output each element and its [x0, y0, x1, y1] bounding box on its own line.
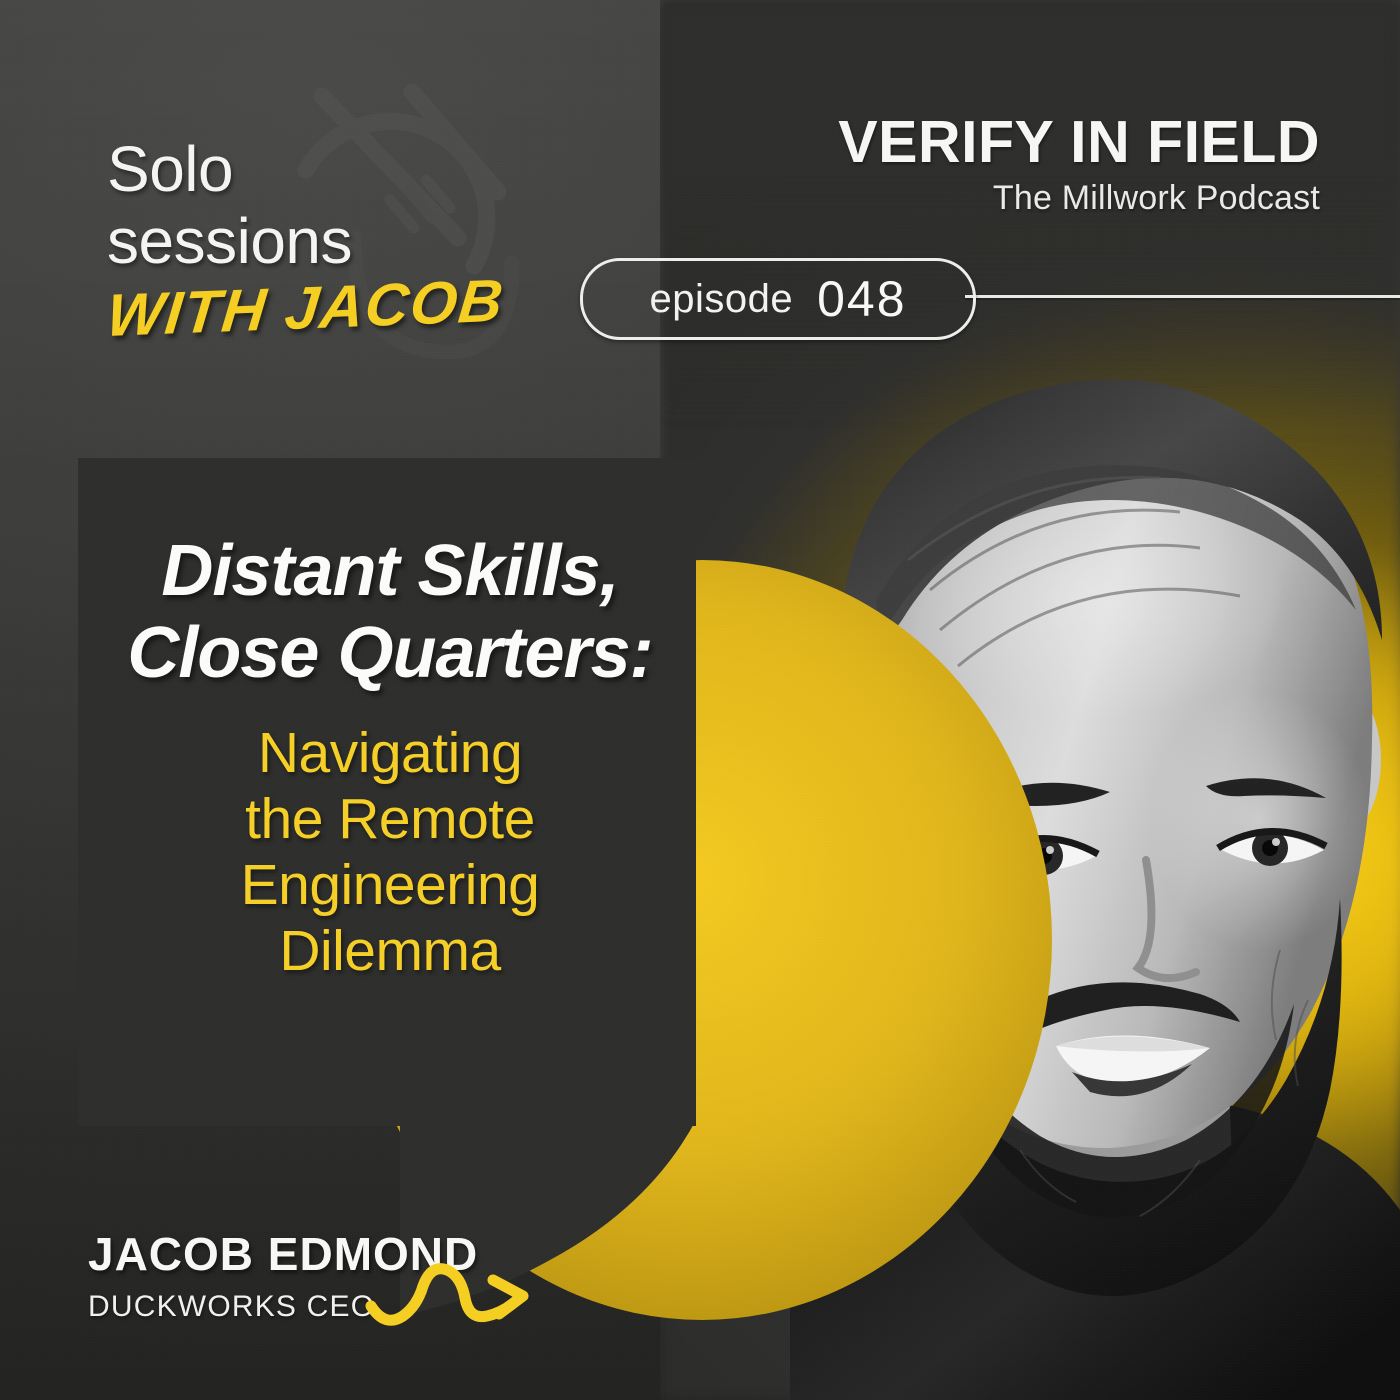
show-title-line1: Solo	[107, 133, 537, 205]
episode-title-sub: Navigating the Remote Engineering Dilemm…	[100, 720, 680, 984]
show-title-line2: sessions	[107, 205, 537, 277]
episode-subtitle-line2: the Remote	[100, 786, 680, 852]
episode-rule-line	[965, 295, 1400, 298]
squiggly-arrow-icon	[365, 1262, 540, 1332]
episode-title-block: Distant Skills, Close Quarters: Navigati…	[100, 530, 680, 984]
episode-title-line2: Close Quarters:	[100, 612, 680, 694]
episode-label: episode	[649, 277, 793, 322]
show-title-block: Solo sessions WITH JACOB	[107, 133, 537, 349]
show-title-with-host: WITH JACOB	[104, 267, 543, 349]
episode-number: 048	[817, 270, 906, 328]
episode-subtitle-line4: Dilemma	[100, 918, 680, 984]
episode-subtitle-line1: Navigating	[100, 720, 680, 786]
brand-block: VERIFY IN FIELD The Millwork Podcast	[700, 110, 1320, 218]
episode-badge: episode 048	[580, 258, 976, 340]
episode-subtitle-line3: Engineering	[100, 852, 680, 918]
brand-name: VERIFY IN FIELD	[700, 110, 1320, 174]
episode-title-line1: Distant Skills,	[100, 530, 680, 612]
podcast-cover-art: Solo sessions WITH JACOB VERIFY IN FIELD…	[0, 0, 1400, 1400]
episode-title-main: Distant Skills, Close Quarters:	[100, 530, 680, 694]
brand-subtitle: The Millwork Podcast	[700, 178, 1320, 218]
